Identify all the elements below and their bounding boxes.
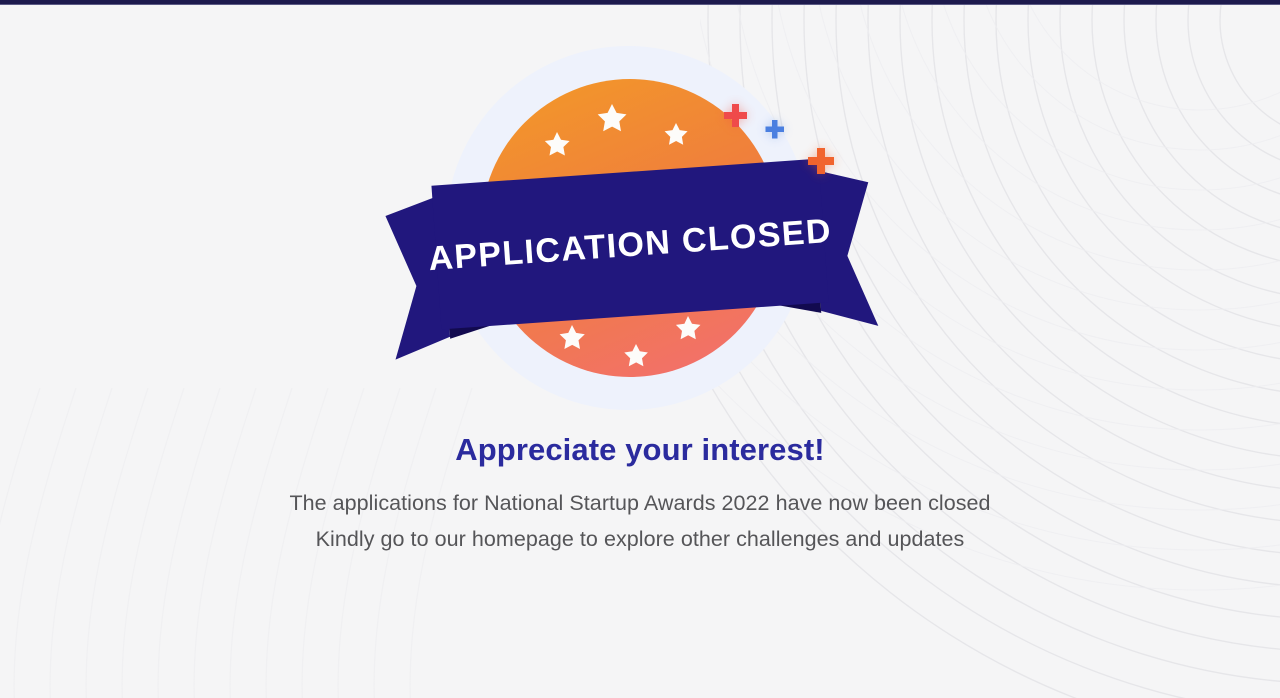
page-title: Appreciate your interest! bbox=[455, 433, 824, 467]
page-content: APPLICATION CLOSED bbox=[0, 0, 1280, 698]
badge-illustration: APPLICATION CLOSED bbox=[380, 44, 900, 419]
top-accent-bar bbox=[0, 0, 1280, 5]
application-closed-badge: APPLICATION CLOSED bbox=[380, 44, 900, 419]
message-line-1: The applications for National Startup Aw… bbox=[289, 486, 990, 522]
message-line-2: Kindly go to our homepage to explore oth… bbox=[289, 522, 990, 558]
message-block: The applications for National Startup Aw… bbox=[289, 486, 990, 558]
